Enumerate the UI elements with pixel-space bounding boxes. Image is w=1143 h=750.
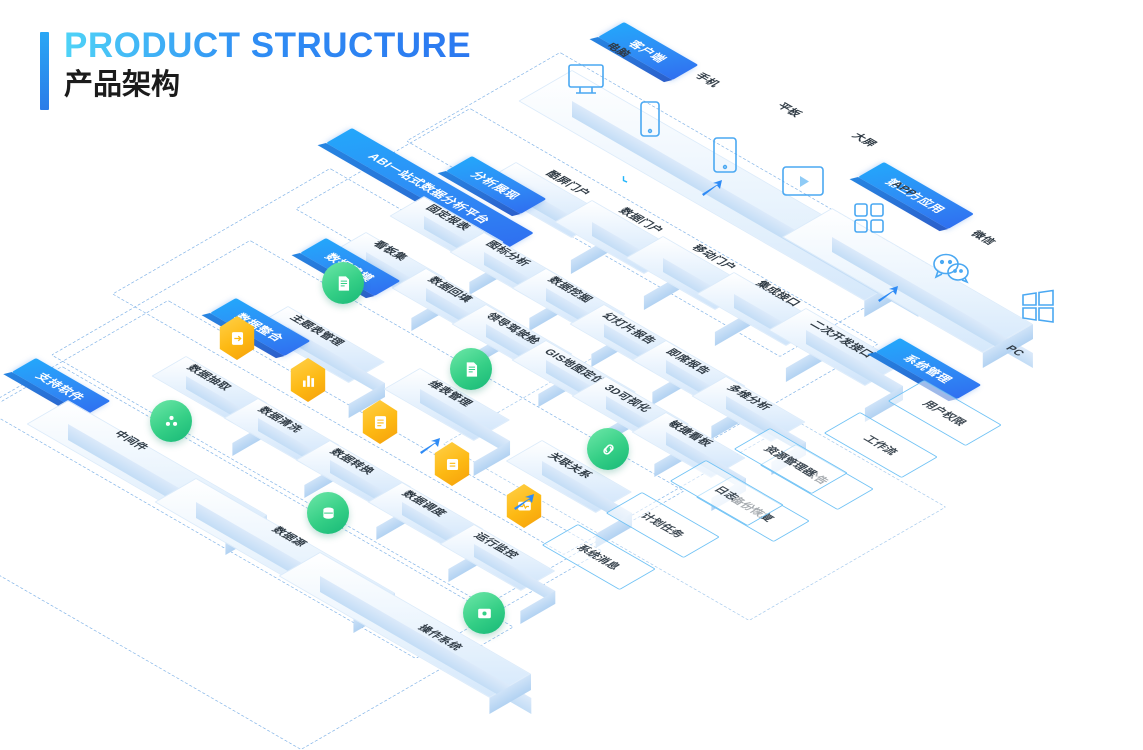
app-grid-icon: [853, 202, 887, 241]
link-chain-icon: [587, 428, 629, 470]
sysbox-label-1: 工作流: [860, 433, 902, 458]
client-item-label-1: 手机: [691, 70, 724, 89]
windows-icon: [1020, 288, 1056, 329]
smartphone-icon: [639, 100, 661, 143]
table-doc-icon: [322, 262, 364, 304]
large-screen-icon: [781, 164, 825, 205]
desktop-monitor-icon: [566, 62, 606, 103]
tag-system-management-label: 系统管理: [900, 352, 958, 386]
sysbox-label-0: 用户权限: [919, 398, 971, 428]
client-item-label-2: 平板: [773, 100, 806, 119]
os-window-icon: [463, 592, 505, 634]
database-icon: [307, 492, 349, 534]
sysbox-label-7: 系统消息: [573, 542, 625, 572]
sysbox-label-5: 日志: [710, 484, 743, 503]
wechat-icon: [931, 252, 971, 289]
client-item-label-3: 大屏: [848, 130, 881, 149]
middleware-nodes-icon: [150, 400, 192, 442]
architecture-diagram: 客户端 电脑 手机 平板 大屏 第三方应用 APP 微信 PC: [0, 0, 1143, 734]
tablet-icon: [712, 136, 738, 179]
third-party-item-label-1: 微信: [967, 228, 1000, 247]
table-doc-icon-2: [450, 348, 492, 390]
tag-client: 客户端: [598, 22, 698, 80]
sysbox-label-6: 计划任务: [637, 510, 689, 540]
tag-third-party-label: 第三方应用: [882, 176, 951, 216]
